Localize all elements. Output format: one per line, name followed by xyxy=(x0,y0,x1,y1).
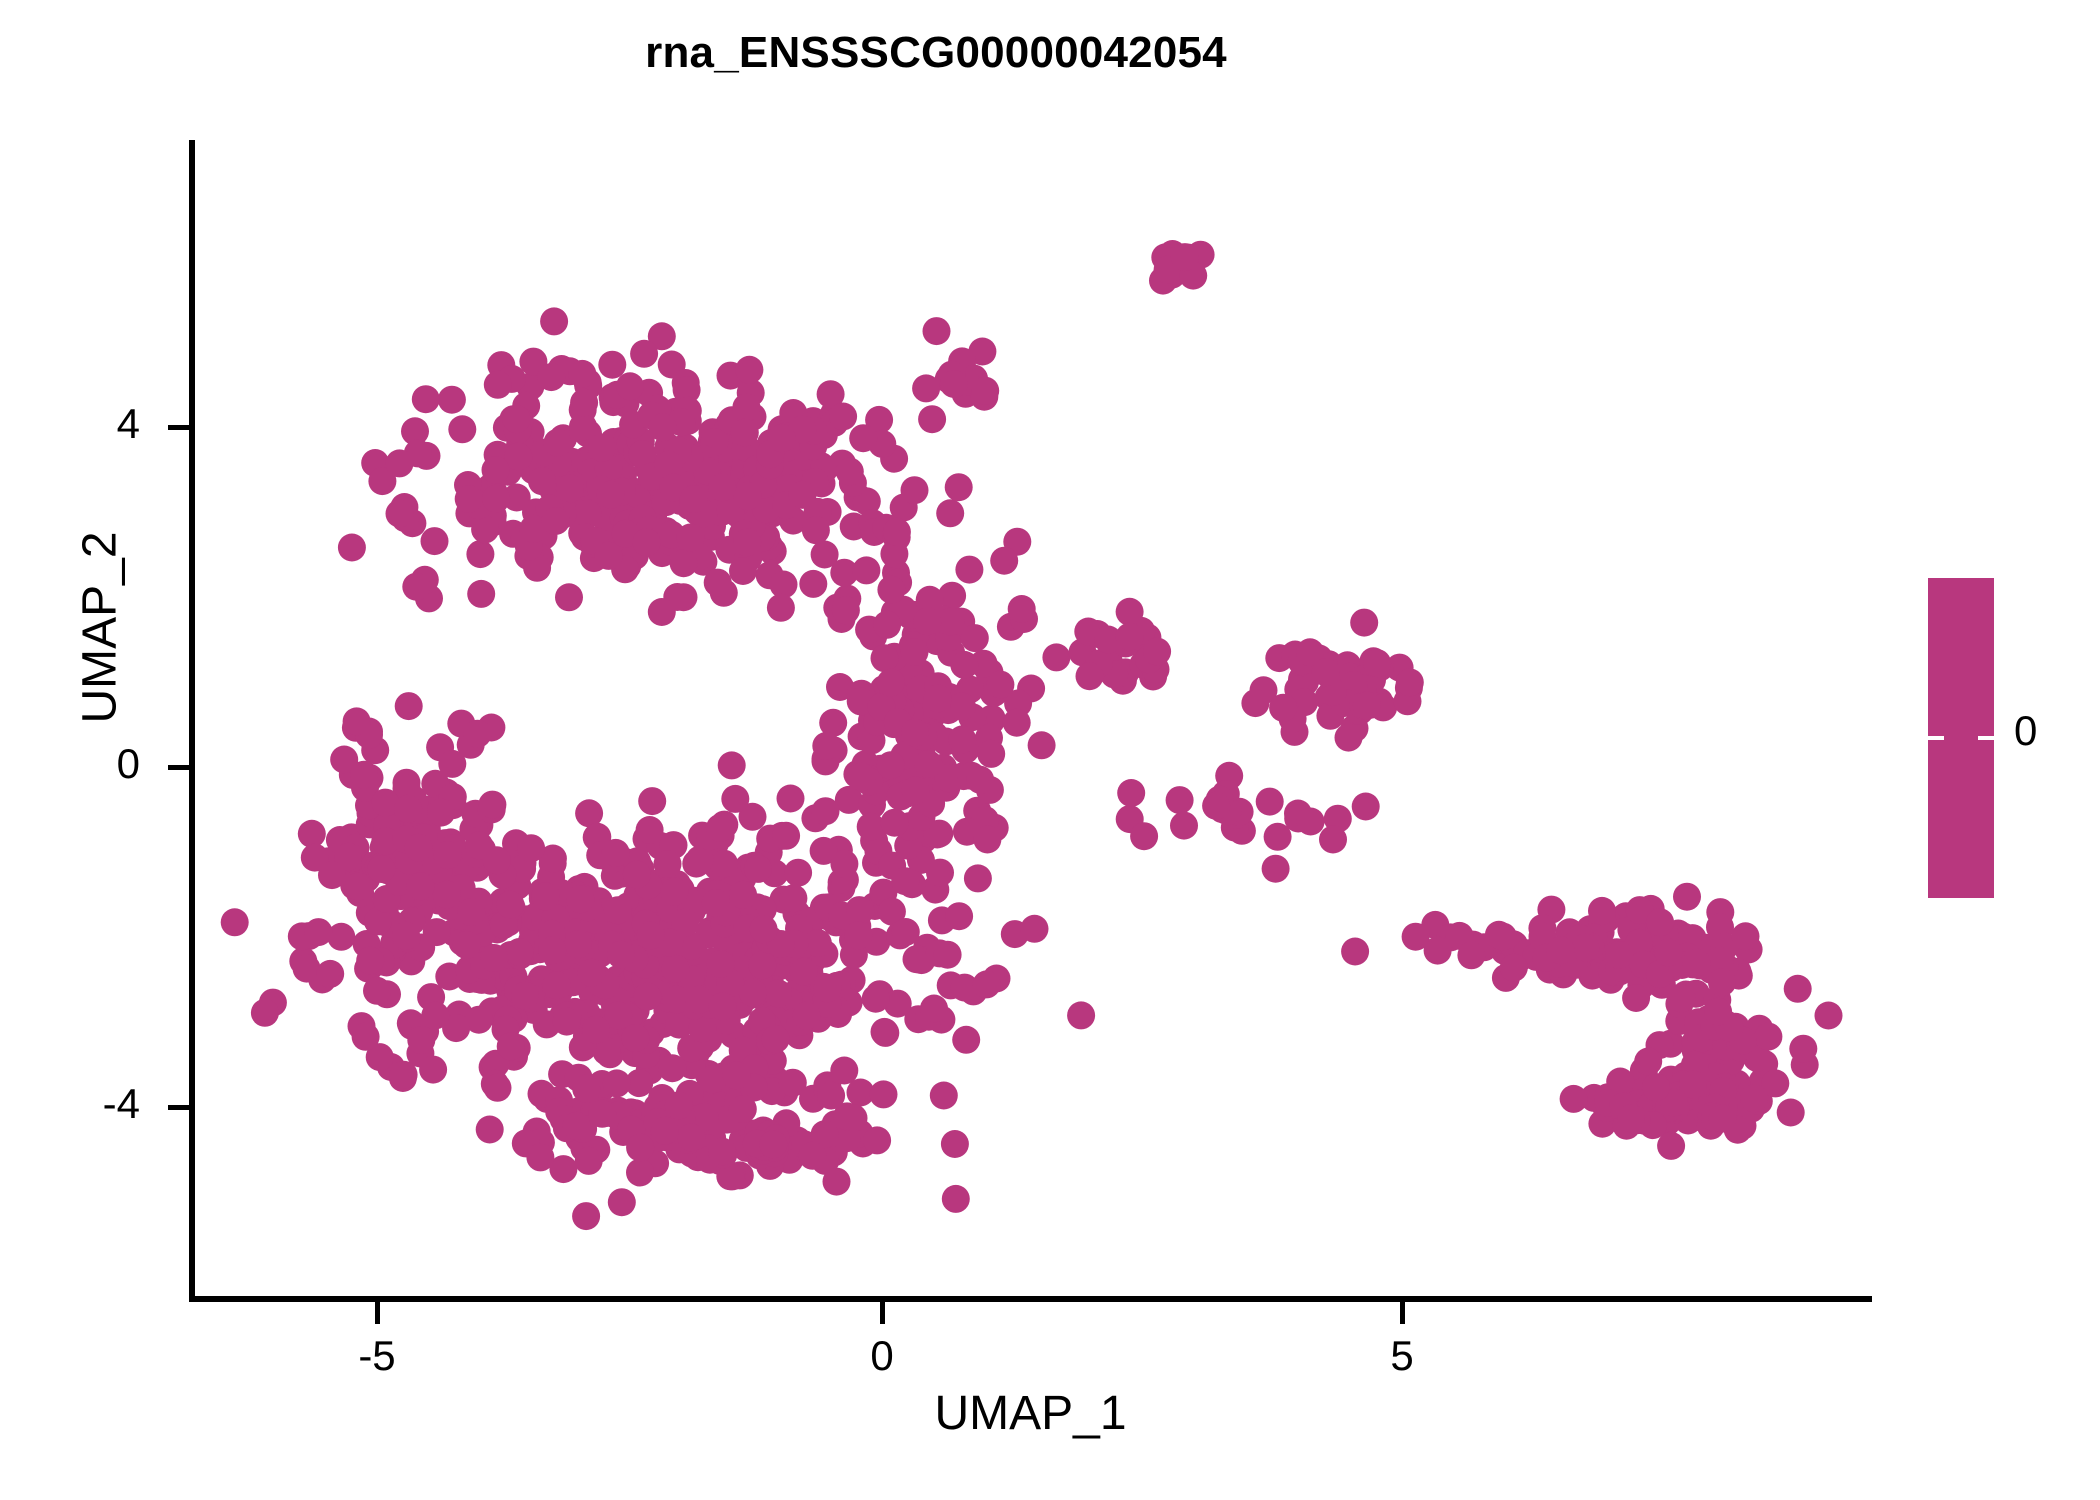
colorbar-tick-label-0: 0 xyxy=(2014,710,2037,752)
umap-feature-plot: rna_ENSSSCG00000042054 4 0 -4 -5 0 5 UMA… xyxy=(0,0,2100,1500)
y-tick-mark-0 xyxy=(168,765,190,770)
page-title: rna_ENSSSCG00000042054 xyxy=(0,28,1872,78)
colorbar[interactable] xyxy=(1928,578,1994,898)
x-tick-label-0: 0 xyxy=(802,1335,962,1377)
x-axis-line xyxy=(189,1296,1872,1302)
y-tick-mark-4 xyxy=(168,425,190,430)
legend: 0 xyxy=(1928,578,1994,898)
scatter-points-layer xyxy=(193,140,1872,1300)
colorbar-tick-left xyxy=(1928,736,1944,740)
x-tick-label-neg5: -5 xyxy=(297,1335,457,1377)
y-tick-mark-neg4 xyxy=(168,1105,190,1110)
x-tick-mark-0 xyxy=(880,1302,885,1324)
x-tick-label-5: 5 xyxy=(1322,1335,1482,1377)
x-axis-title: UMAP_1 xyxy=(189,1386,1872,1441)
x-tick-mark-5 xyxy=(1400,1302,1405,1324)
x-tick-mark-neg5 xyxy=(375,1302,380,1324)
y-axis-title: UMAP_2 xyxy=(73,418,128,838)
y-axis-line xyxy=(189,140,195,1302)
y-tick-label-neg4: -4 xyxy=(20,1083,140,1125)
plot-panel xyxy=(193,140,1872,1300)
colorbar-tick-right xyxy=(1978,736,1994,740)
